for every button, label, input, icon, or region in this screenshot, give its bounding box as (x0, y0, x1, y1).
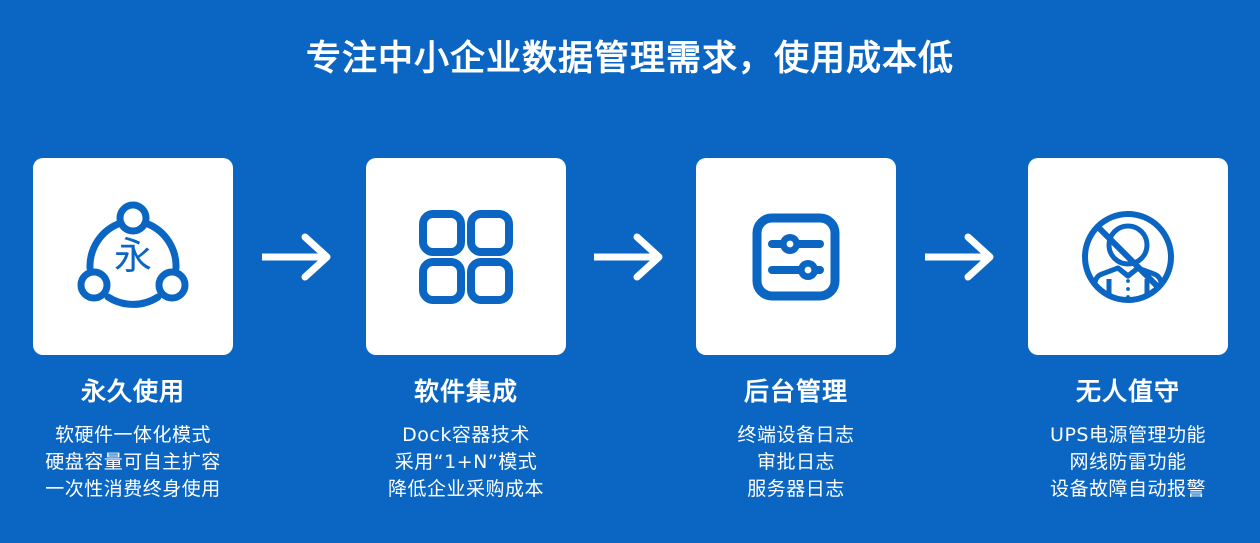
permanent-icon-char: 永 (114, 234, 152, 278)
feature-card-software-integration[interactable] (366, 158, 566, 355)
feature-text-permanent-use: 永久使用 软硬件一体化模式 硬盘容量可自主扩容 一次性消费终身使用 (0, 375, 283, 503)
feature-lines: 软硬件一体化模式 硬盘容量可自主扩容 一次性消费终身使用 (0, 422, 283, 503)
flow-arrow-2 (594, 232, 666, 282)
feature-line: 采用“1+N”模式 (316, 449, 616, 476)
feature-text-software-integration: 软件集成 Dock容器技术 采用“1+N”模式 降低企业采购成本 (316, 375, 616, 503)
feature-line: 网线防雷功能 (978, 449, 1260, 476)
permanent-network-icon: 永 (73, 197, 193, 317)
feature-heading: 软件集成 (316, 375, 616, 409)
feature-line: UPS电源管理功能 (978, 422, 1260, 449)
page-title: 专注中小企业数据管理需求，使用成本低 (0, 34, 1260, 84)
feature-line: 一次性消费终身使用 (0, 476, 283, 503)
infographic-page: 专注中小企业数据管理需求，使用成本低 永 (0, 0, 1260, 543)
feature-card-backend-management[interactable] (696, 158, 896, 355)
flow-arrow-3 (925, 232, 997, 282)
feature-line: 降低企业采购成本 (316, 476, 616, 503)
feature-line: 审批日志 (646, 449, 946, 476)
settings-sliders-icon (736, 197, 856, 317)
feature-lines: UPS电源管理功能 网线防雷功能 设备故障自动报警 (978, 422, 1260, 503)
feature-heading: 后台管理 (646, 375, 946, 409)
feature-card-permanent-use[interactable]: 永 (33, 158, 233, 355)
feature-line: 硬盘容量可自主扩容 (0, 449, 283, 476)
feature-card-unattended[interactable] (1028, 158, 1228, 355)
feature-line: 软硬件一体化模式 (0, 422, 283, 449)
feature-heading: 永久使用 (0, 375, 283, 409)
feature-line: 服务器日志 (646, 476, 946, 503)
feature-line: 终端设备日志 (646, 422, 946, 449)
feature-line: 设备故障自动报警 (978, 476, 1260, 503)
feature-heading: 无人值守 (978, 375, 1260, 409)
flow-arrow-1 (262, 232, 334, 282)
feature-text-backend-management: 后台管理 终端设备日志 审批日志 服务器日志 (646, 375, 946, 503)
feature-line: Dock容器技术 (316, 422, 616, 449)
grid-modules-icon (406, 197, 526, 317)
feature-lines: Dock容器技术 采用“1+N”模式 降低企业采购成本 (316, 422, 616, 503)
feature-lines: 终端设备日志 审批日志 服务器日志 (646, 422, 946, 503)
feature-text-unattended: 无人值守 UPS电源管理功能 网线防雷功能 设备故障自动报警 (978, 375, 1260, 503)
no-person-unattended-icon (1068, 197, 1188, 317)
